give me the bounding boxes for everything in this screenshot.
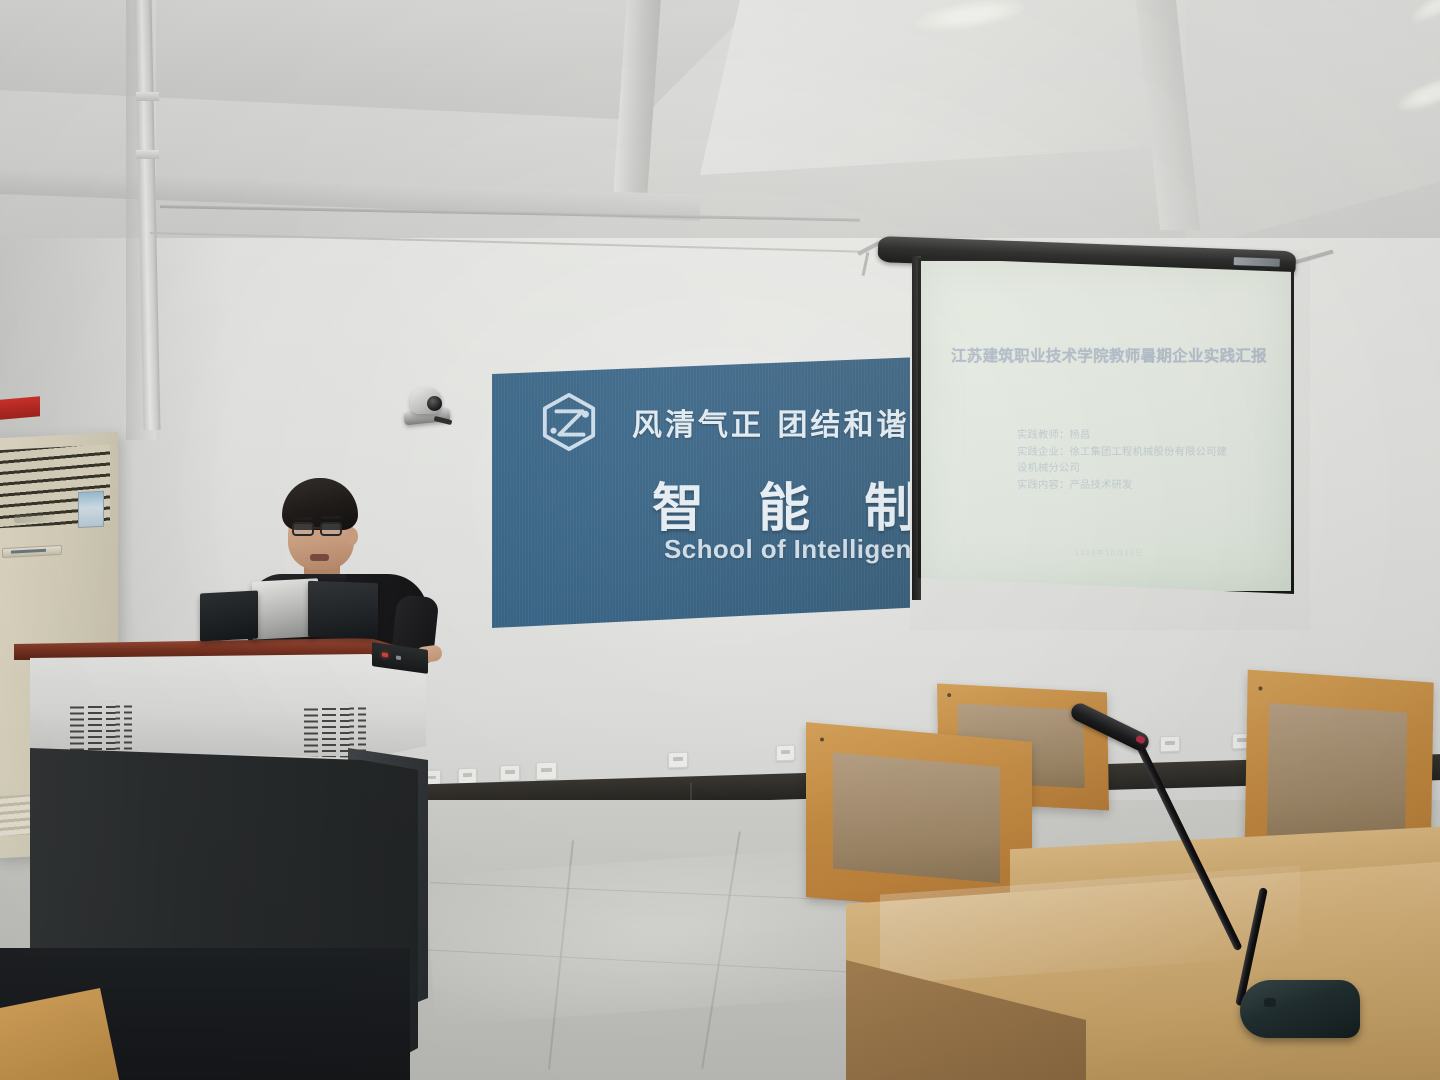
wall-socket xyxy=(776,745,795,762)
camera-body xyxy=(410,388,442,414)
chair-stud xyxy=(947,693,951,697)
lectern-monitor-left[interactable] xyxy=(200,590,258,641)
status-led-icon xyxy=(396,655,401,660)
wall-socket xyxy=(536,762,557,781)
slide-date: 2020年10月13日 xyxy=(927,548,1291,558)
screen-brand-plate xyxy=(1234,257,1280,267)
slide-line: 实践内容：产品技术研发 xyxy=(1017,477,1279,494)
classroom-photo: 风清气正 团结和谐 智 能 制 造 School of Intelligen 江… xyxy=(0,0,1440,1080)
power-led-icon xyxy=(382,652,388,657)
presenter-ear xyxy=(347,528,358,545)
slide: 江苏建筑职业技术学院教师暑期企业实践汇报 实践教师：杨昌 实践企业：徐工集团工程… xyxy=(921,261,1291,591)
ac-energy-label xyxy=(78,491,104,528)
sign-department-en: School of Intelligen xyxy=(664,534,912,565)
microphone-base[interactable] xyxy=(1240,980,1360,1038)
wall-socket xyxy=(500,765,520,782)
sign-motto: 风清气正 团结和谐 xyxy=(632,400,909,444)
glasses-icon xyxy=(292,522,314,536)
projection-screen: 江苏建筑职业技术学院教师暑期企业实践汇报 实践教师：杨昌 实践企业：徐工集团工程… xyxy=(878,236,1296,608)
chair-stud xyxy=(1259,686,1263,690)
microphone-neck xyxy=(1130,732,1242,951)
presenter-mouth xyxy=(310,554,329,561)
ceiling-edge-right xyxy=(1186,0,1440,250)
glasses-icon xyxy=(320,522,342,536)
chair-back-pad xyxy=(833,752,1000,882)
slide-body: 实践教师：杨昌 实践企业：徐工集团工程机械股份有限公司建 设机械分公司 实践内容… xyxy=(1017,427,1279,494)
presenter-eyebrow xyxy=(293,517,313,520)
pipe-band xyxy=(136,92,159,101)
slide-line: 实践教师：杨昌 xyxy=(1017,427,1279,444)
slide-title: 江苏建筑职业技术学院教师暑期企业实践汇报 xyxy=(927,345,1291,367)
lectern-monitor-right[interactable] xyxy=(308,581,378,639)
ptz-conference-camera-icon xyxy=(404,386,450,430)
pipe-band xyxy=(136,150,159,159)
chair-stud xyxy=(820,737,824,741)
hexagon-z-logo-icon xyxy=(540,392,598,452)
wall-socket xyxy=(668,752,688,769)
red-object xyxy=(0,396,40,419)
microphone-talk-button[interactable] xyxy=(1264,998,1276,1007)
gooseneck-microphone[interactable] xyxy=(1060,718,1360,1038)
presenter-eyebrow xyxy=(321,516,341,519)
glasses-bridge xyxy=(314,527,322,529)
screen-surface: 江苏建筑职业技术学院教师暑期企业实践汇报 实践教师：杨昌 实践企业：徐工集团工程… xyxy=(918,258,1294,594)
ac-display-panel[interactable] xyxy=(2,545,62,558)
slide-line: 实践企业：徐工集团工程机械股份有限公司建 xyxy=(1017,444,1279,461)
slide-line: 设机械分公司 xyxy=(1017,460,1279,477)
camera-lens-icon xyxy=(427,396,442,411)
lectern-upper-panel xyxy=(30,654,426,758)
ceiling xyxy=(0,0,1440,250)
